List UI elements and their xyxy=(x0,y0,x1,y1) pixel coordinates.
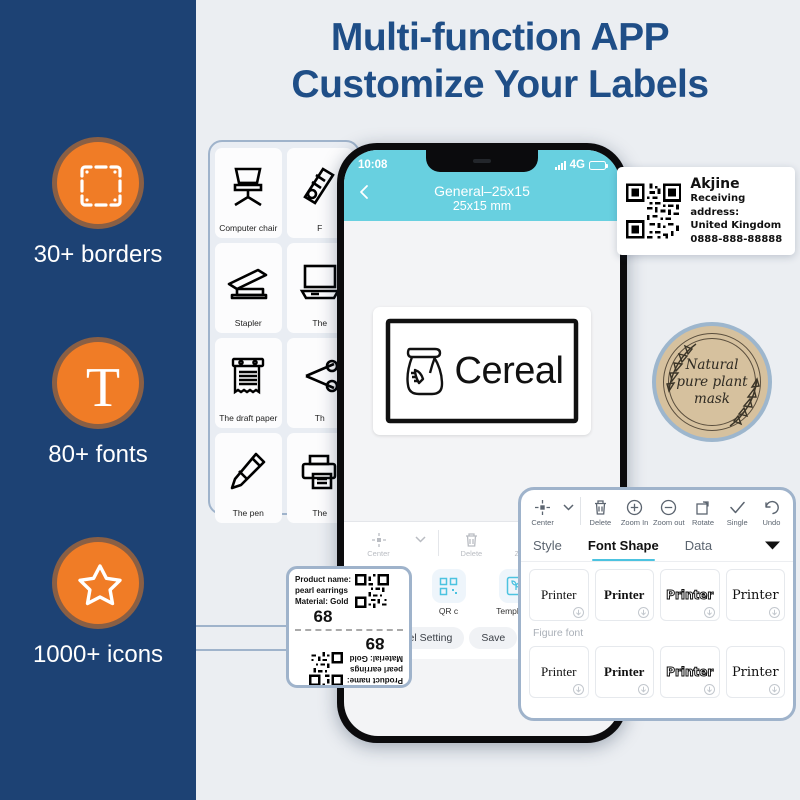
fp-tool-zoom-in[interactable]: Zoom In xyxy=(618,497,651,527)
jewelry-line-1: Product name: xyxy=(295,574,351,585)
fp-tool-label: Single xyxy=(721,518,754,527)
fp-tool-rotate[interactable]: Rotate xyxy=(686,497,719,527)
template-card-draft-paper[interactable]: The draft paper xyxy=(215,338,282,428)
caret-down-icon xyxy=(560,497,577,518)
phone-tool-center[interactable]: Center xyxy=(351,530,406,558)
fp-tool-caret[interactable] xyxy=(560,497,577,527)
phone-nav-bar: General–25x15 25x15 mm xyxy=(344,180,620,221)
download-circle-icon[interactable] xyxy=(704,684,715,695)
font-sample: Printer xyxy=(604,587,644,603)
fp-tool-center[interactable]: Center xyxy=(526,497,559,527)
template-label: Stapler xyxy=(235,318,262,328)
template-card-computer-chair[interactable]: Computer chair xyxy=(215,148,282,238)
toolbar-divider xyxy=(580,497,581,525)
phone-object-label: QR c xyxy=(415,606,482,616)
fp-tool-undo[interactable]: Undo xyxy=(755,497,788,527)
akjine-line-3: 0888-888-88888 xyxy=(690,233,786,247)
font-row-2[interactable]: Printer Printer Printer Printer xyxy=(521,639,793,698)
badge-line-3: mask xyxy=(694,391,730,408)
badge-line-2: pure plant xyxy=(676,374,747,391)
download-circle-icon[interactable] xyxy=(638,607,649,618)
fp-tool-label: Zoom out xyxy=(652,518,685,527)
qrcode-icon xyxy=(309,652,343,686)
feature-sidebar: 30+ borders T 80+ fonts 1000+ icons xyxy=(0,0,196,800)
qrcode-icon xyxy=(626,180,681,242)
font-sample: Printer xyxy=(666,588,713,602)
jewelry-line-3: Material: Gold xyxy=(295,596,351,607)
jewelry-number-bottom: 89 xyxy=(347,633,403,653)
minus-circle-icon xyxy=(652,497,685,518)
feature-fonts-badge: T xyxy=(52,337,144,429)
feature-borders-label: 30+ borders xyxy=(0,241,196,269)
jewelry-line-2: pearl earrings xyxy=(295,585,351,596)
feature-fonts: T 80+ fonts xyxy=(0,337,196,469)
feature-icons-badge xyxy=(52,537,144,629)
center-align-icon xyxy=(526,497,559,518)
trash-icon xyxy=(444,530,499,549)
nav-title: General–25x15 xyxy=(344,183,620,199)
template-card-pen[interactable]: The pen xyxy=(215,433,282,523)
badge-line-1: Natural xyxy=(686,357,739,374)
save-button[interactable]: Save xyxy=(469,627,517,649)
label-canvas[interactable]: Cereal xyxy=(344,221,620,521)
jewelry-number-top: 68 xyxy=(295,607,351,627)
toolbar-divider xyxy=(438,530,439,556)
jewelry-line-3-mirror: Material: Gold xyxy=(347,653,403,664)
cereal-label-text: Cereal xyxy=(455,350,564,393)
tag-perforation xyxy=(295,629,403,631)
akjine-name: Akjine xyxy=(690,176,786,192)
font-row-1[interactable]: Printer Printer Printer Printer xyxy=(521,562,793,621)
fp-tool-zoom-out[interactable]: Zoom out xyxy=(652,497,685,527)
qrcode-icon xyxy=(355,574,389,608)
scissors-icon xyxy=(298,338,342,413)
jewelry-tag-top: Product name: pearl earrings Material: G… xyxy=(295,574,403,627)
font-card[interactable]: Printer xyxy=(726,569,786,621)
trash-icon xyxy=(584,497,617,518)
feature-icons-label: 1000+ icons xyxy=(0,641,196,669)
star-icon xyxy=(75,561,125,611)
font-card[interactable]: Printer xyxy=(726,646,786,698)
font-card[interactable]: Printer xyxy=(529,646,589,698)
template-label: The xyxy=(312,318,327,328)
status-time: 10:08 xyxy=(358,159,387,171)
tab-font-shape[interactable]: Font Shape xyxy=(588,531,659,561)
font-card[interactable]: Printer xyxy=(660,569,720,621)
feature-borders-badge xyxy=(52,137,144,229)
cereal-label[interactable]: Cereal xyxy=(373,307,591,435)
draft-paper-icon xyxy=(226,338,270,413)
akjine-line-1: Receiving address: xyxy=(690,192,786,219)
office-chair-icon xyxy=(225,148,271,223)
font-card[interactable]: Printer xyxy=(595,646,655,698)
undo-icon xyxy=(755,497,788,518)
template-label: F xyxy=(317,223,322,233)
fp-tool-label: Rotate xyxy=(686,518,719,527)
download-circle-icon[interactable] xyxy=(573,684,584,695)
phone-tool-caret[interactable] xyxy=(408,530,433,558)
akjine-address-label: Akjine Receiving address: United Kingdom… xyxy=(617,167,795,255)
feature-borders: 30+ borders xyxy=(0,137,196,269)
phone-tool-label: Center xyxy=(351,549,406,558)
font-card[interactable]: Printer xyxy=(595,569,655,621)
feature-fonts-label: 80+ fonts xyxy=(0,441,196,469)
page-title: Multi-function APP Customize Your Labels xyxy=(200,14,800,108)
font-card[interactable]: Printer xyxy=(529,569,589,621)
font-panel-toolbar[interactable]: Center Delete xyxy=(521,490,793,531)
font-sample: Printer xyxy=(604,664,644,680)
fp-tool-single[interactable]: Single xyxy=(721,497,754,527)
status-network: 4G xyxy=(570,159,585,171)
template-label: The xyxy=(312,508,327,518)
caret-down-icon xyxy=(408,530,433,549)
font-card[interactable]: Printer xyxy=(660,646,720,698)
download-circle-icon[interactable] xyxy=(704,607,715,618)
download-circle-icon[interactable] xyxy=(769,684,780,695)
back-chevron-icon[interactable] xyxy=(356,184,372,200)
font-sample: Printer xyxy=(732,588,779,603)
jewelry-tag-bottom: Product name: pearl earrings Material: G… xyxy=(295,633,403,686)
fp-tool-delete[interactable]: Delete xyxy=(584,497,617,527)
computer-monitor-icon xyxy=(297,243,343,318)
feature-icons: 1000+ icons xyxy=(0,537,196,669)
grain-sack-icon xyxy=(401,343,451,399)
battery-icon xyxy=(589,161,606,170)
dashed-border-icon xyxy=(79,164,123,208)
tab-data[interactable]: Data xyxy=(685,531,712,561)
jewelry-line-2-mirror: pearl earrings xyxy=(347,664,403,675)
download-circle-icon[interactable] xyxy=(638,684,649,695)
check-icon xyxy=(721,497,754,518)
text-T-icon: T xyxy=(57,342,149,434)
font-sample: Printer xyxy=(666,665,713,679)
template-label: Computer chair xyxy=(219,223,277,233)
phone-notch xyxy=(426,150,538,172)
pen-icon xyxy=(226,433,270,508)
fp-tool-label: Undo xyxy=(755,518,788,527)
signal-icon xyxy=(555,161,566,170)
font-sample: Printer xyxy=(732,665,779,680)
headline-line-1: Multi-function APP xyxy=(200,14,800,61)
akjine-line-2: United Kingdom xyxy=(690,219,786,233)
template-label: The draft paper xyxy=(219,413,277,423)
template-label: The pen xyxy=(233,508,264,518)
file-folder-icon xyxy=(297,148,343,223)
stapler-icon xyxy=(224,243,272,318)
plant-mask-badge: Natural pure plant mask xyxy=(652,322,772,442)
phone-tool-label: Delete xyxy=(444,549,499,558)
template-label: Th xyxy=(315,413,325,423)
tab-style[interactable]: Style xyxy=(533,531,562,561)
jewelry-tag-label: Product name: pearl earrings Material: G… xyxy=(286,566,412,688)
plus-circle-icon xyxy=(618,497,651,518)
fp-tool-label: Delete xyxy=(584,518,617,527)
template-card-stapler[interactable]: Stapler xyxy=(215,243,282,333)
font-shape-panel[interactable]: Center Delete xyxy=(518,487,796,721)
font-sample: Printer xyxy=(541,587,576,603)
figure-font-section-label: Figure font xyxy=(521,621,793,639)
fp-tool-label: Center xyxy=(526,518,559,527)
qrcode-icon xyxy=(432,569,466,603)
nav-subtitle: 25x15 mm xyxy=(344,199,620,213)
center-align-icon xyxy=(351,530,406,549)
caret-down-icon[interactable] xyxy=(764,540,781,551)
jewelry-line-1-mirror: Product name: xyxy=(347,675,403,686)
fp-tool-label: Zoom In xyxy=(618,518,651,527)
printer-icon xyxy=(298,433,342,508)
font-sample: Printer xyxy=(541,664,576,680)
rotate-icon xyxy=(686,497,719,518)
phone-tool-delete[interactable]: Delete xyxy=(444,530,499,558)
headline-line-2: Customize Your Labels xyxy=(200,61,800,108)
badge-text: Natural pure plant mask xyxy=(656,326,768,438)
download-circle-icon[interactable] xyxy=(573,607,584,618)
phone-object-qrcode[interactable]: QR c xyxy=(415,569,482,616)
font-panel-tabs[interactable]: Style Font Shape Data xyxy=(521,531,793,562)
download-circle-icon[interactable] xyxy=(769,607,780,618)
